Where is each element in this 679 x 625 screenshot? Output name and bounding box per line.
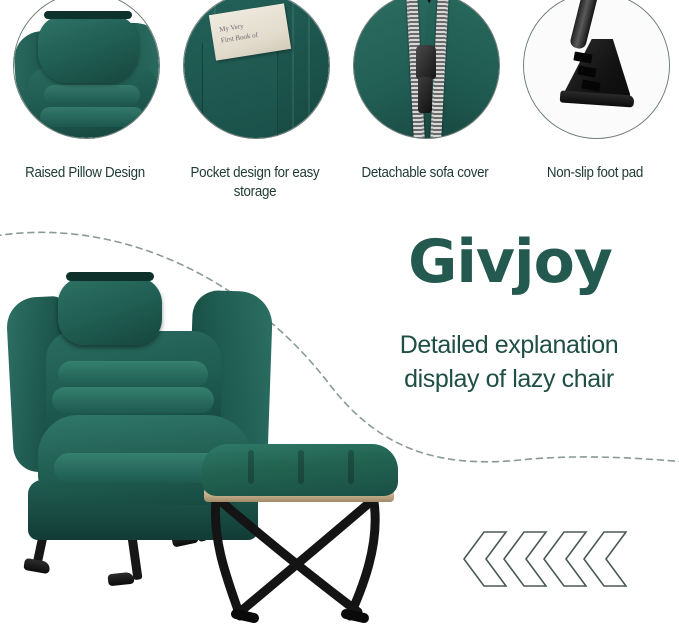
chevron-left-icon-4 [584, 532, 626, 586]
zipper-pull-tab [418, 77, 432, 113]
chair-foot-front-left [23, 558, 51, 574]
brand-name: Givjoy [355, 230, 665, 294]
brand-tagline-line-1: Detailed explanation [348, 328, 670, 362]
feature-panel-foot-pad: Non-slip foot pad [510, 0, 679, 220]
ottoman-cushion [202, 444, 398, 496]
feature-panel-row: Raised Pillow Design My Very First Book … [0, 0, 679, 220]
feature-panel-pocket-design: My Very First Book of Pocket design for … [170, 0, 340, 220]
feature-panel-detachable-cover: Detachable sofa cover [340, 0, 510, 220]
feature-caption-foot-pad: Non-slip foot pad [517, 164, 673, 183]
zipper-slider [416, 45, 436, 79]
feature-image-detachable-cover [353, 0, 500, 139]
brand-tagline-line-2: display of lazy chair [348, 362, 670, 396]
feature-image-raised-pillow [13, 0, 160, 139]
feature-panel-raised-pillow: Raised Pillow Design [0, 0, 170, 220]
feature-caption-raised-pillow: Raised Pillow Design [7, 164, 163, 183]
product-ottoman-image [196, 440, 411, 625]
pocket-shape [202, 43, 278, 138]
feature-caption-pocket-design: Pocket design for easy storage [177, 164, 333, 202]
chevron-left-icon-3 [544, 532, 586, 586]
chevron-left-icon-1 [464, 532, 506, 586]
chevron-left-icon-2 [504, 532, 546, 586]
book-title-line-1: My Very [219, 22, 245, 34]
feature-image-foot-pad [523, 0, 670, 139]
book-title-line-2: First Book of [220, 31, 258, 45]
feature-image-pocket-design: My Very First Book of [183, 0, 330, 139]
chair-foot-front-right [107, 572, 134, 587]
feature-caption-detachable-cover: Detachable sofa cover [347, 164, 503, 183]
chair-headrest-pillow [58, 277, 162, 345]
ottoman-x-frame [196, 494, 411, 624]
pillow-headrest-shape [38, 15, 138, 83]
product-infographic-page: Raised Pillow Design My Very First Book … [0, 0, 679, 625]
brand-tagline: Detailed explanation display of lazy cha… [348, 328, 670, 396]
chevron-arrows-group [462, 528, 627, 590]
